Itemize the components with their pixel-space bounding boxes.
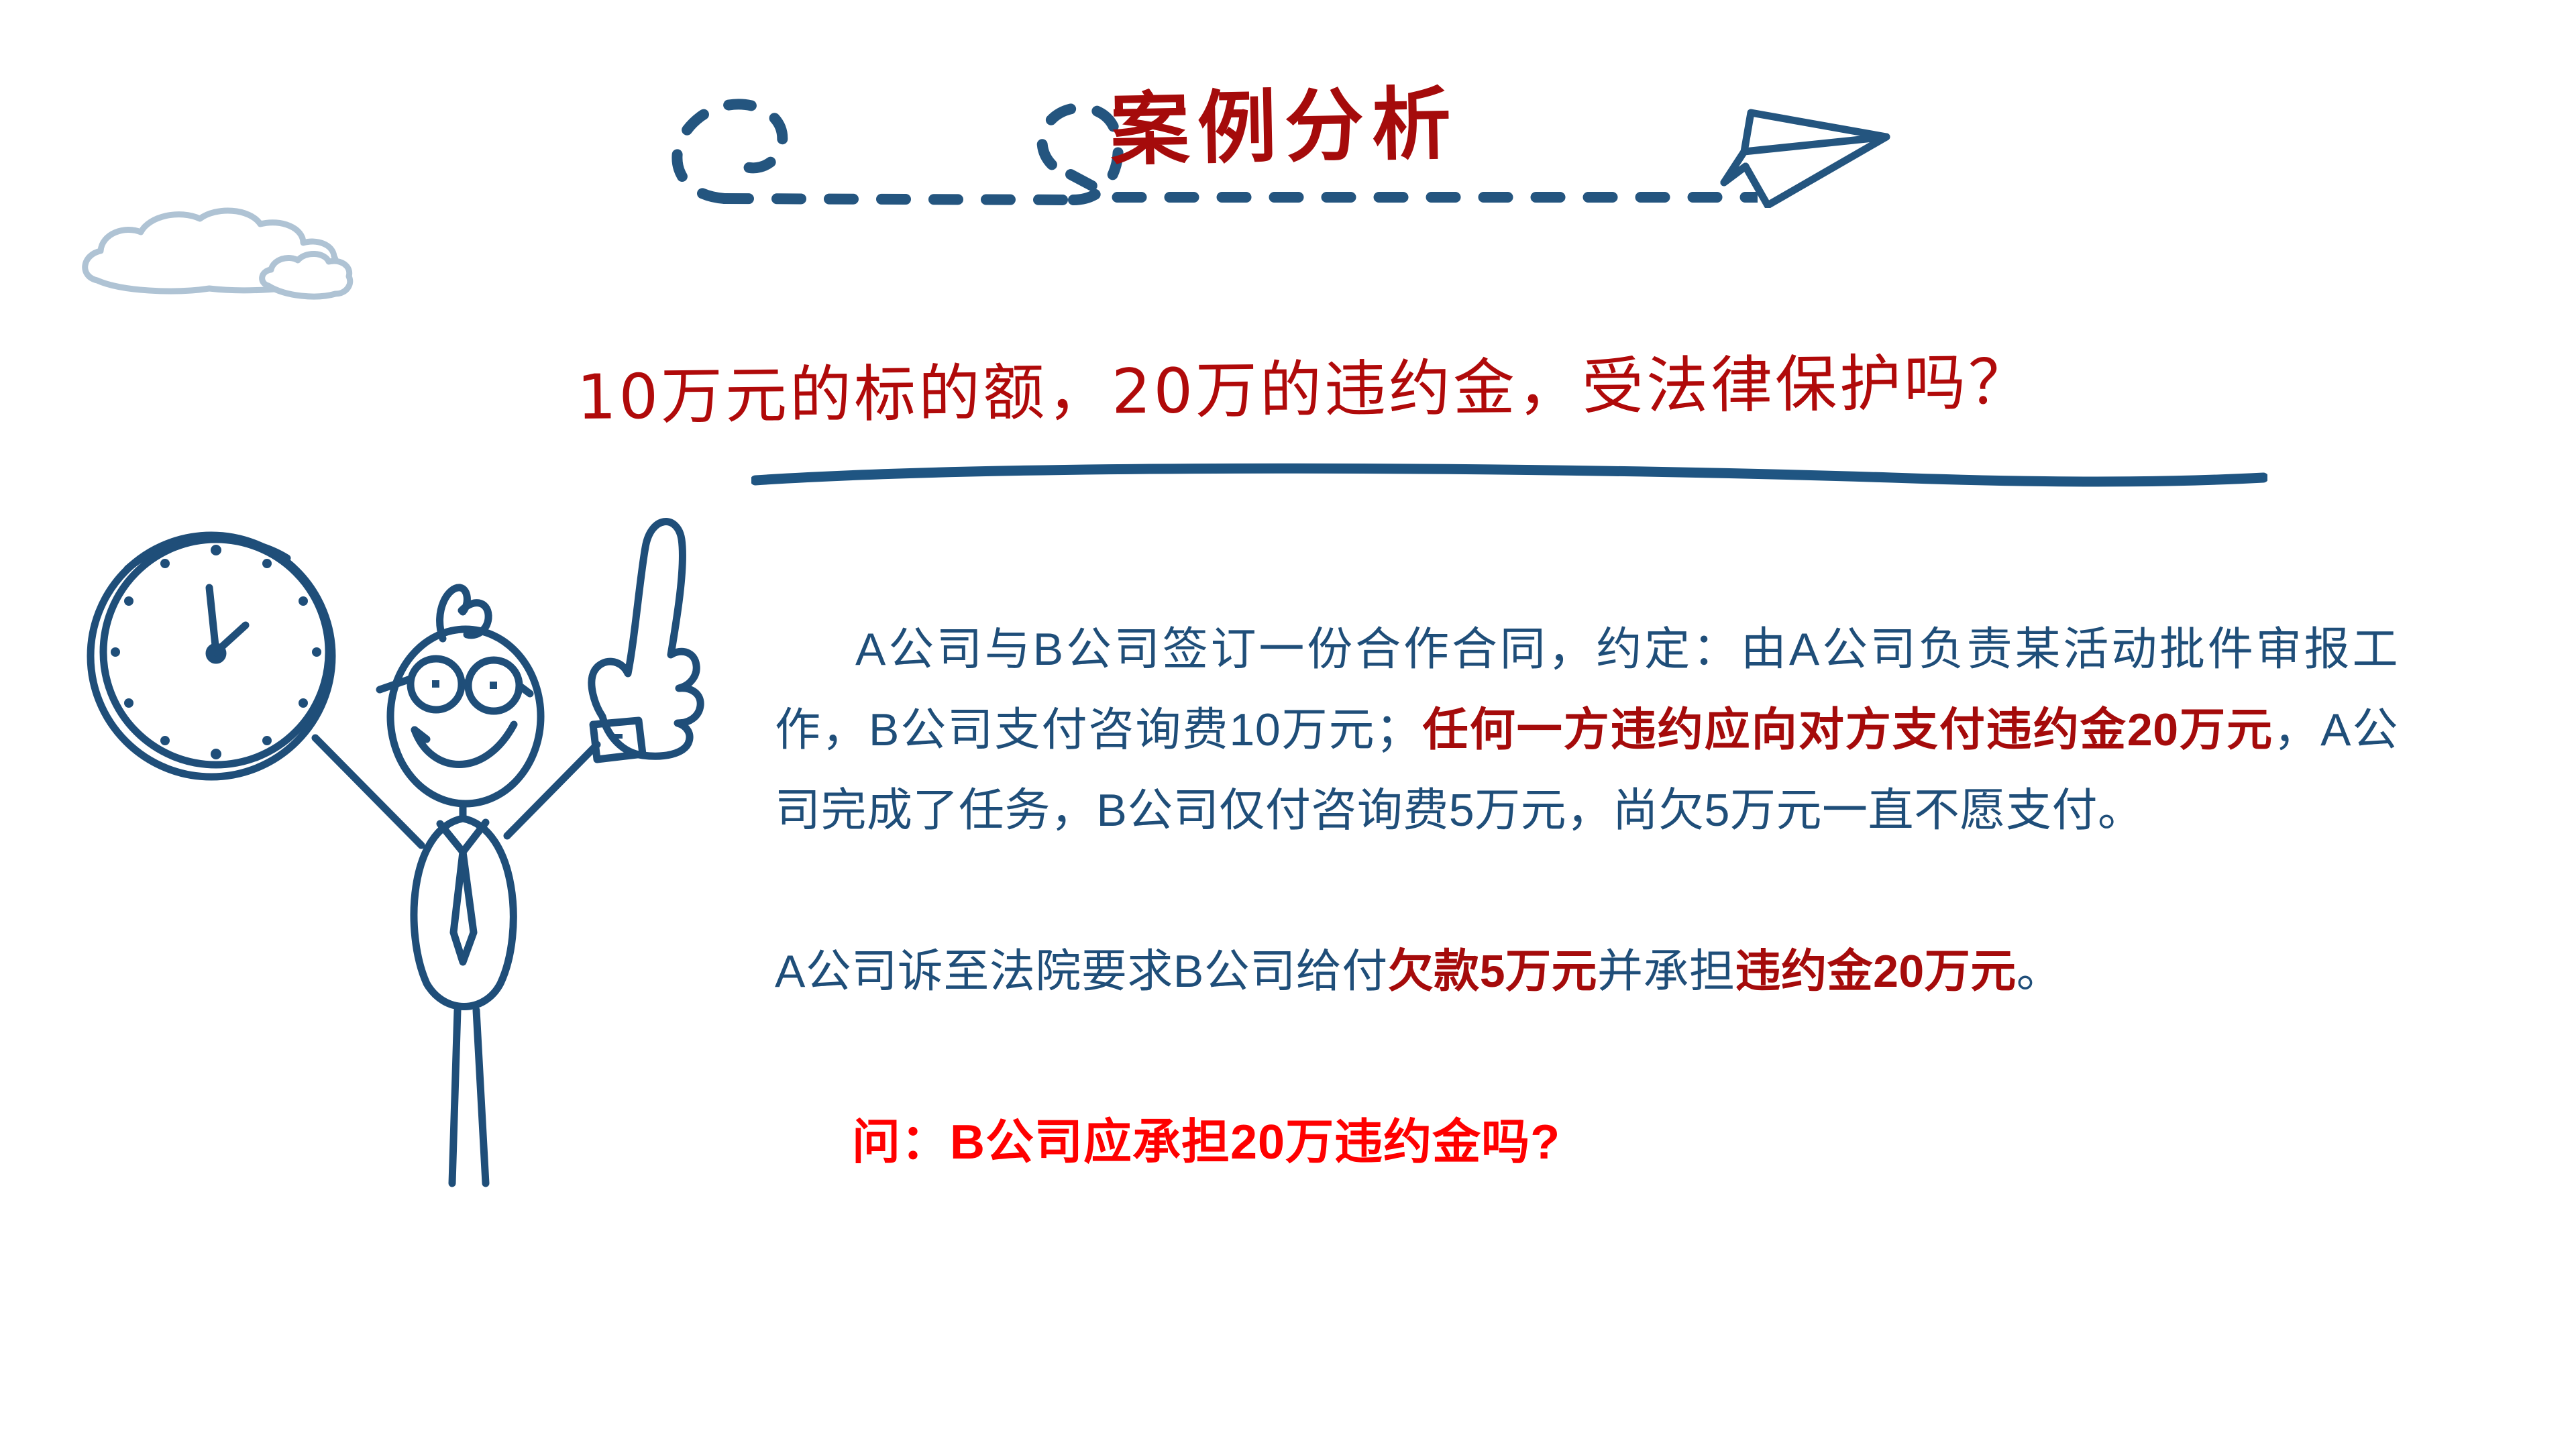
- cloud-icon: [67, 201, 382, 322]
- para2-segment-5: 。: [2017, 946, 2063, 997]
- page-title: 案例分析: [1110, 91, 1580, 205]
- paper-plane-icon: [1697, 87, 1919, 208]
- para2-segment-3: 并承担: [1597, 946, 1735, 997]
- slide-canvas: 案例分析 10万元的标的额，20万的违约金，受法律保护吗？ A公司与B公司签订一…: [0, 0, 2576, 1449]
- headline-underline-icon: [751, 463, 2267, 490]
- stickman-with-clock-icon: [60, 503, 704, 1187]
- page-title-text: 案例分析: [1110, 82, 1580, 170]
- headline-text: 10万元的标的额，20万的违约金，受法律保护吗？: [576, 345, 2563, 431]
- case-description: A公司与B公司签订一份合作合同，约定：由A公司负责某活动批件审报工作，B公司支付…: [775, 563, 2398, 1057]
- case-paragraph-1: A公司与B公司签订一份合作合同，约定：由A公司负责某活动批件审报工作，B公司支付…: [775, 609, 2398, 851]
- para2-emphasis-debt: 欠款5万元: [1388, 946, 1597, 997]
- question-prompt: 问：B公司应承担20万违约金吗?: [852, 1114, 1560, 1171]
- case-paragraph-2: A公司诉至法院要求B公司给付欠款5万元并承担违约金20万元。: [775, 931, 2398, 1012]
- para2-emphasis-penalty: 违约金20万元: [1735, 946, 2017, 997]
- para1-emphasis-penalty-clause: 任何一方违约应向对方支付违约金20万元: [1421, 704, 2273, 755]
- para2-segment-1: A公司诉至法院要求B公司给付: [775, 946, 1388, 997]
